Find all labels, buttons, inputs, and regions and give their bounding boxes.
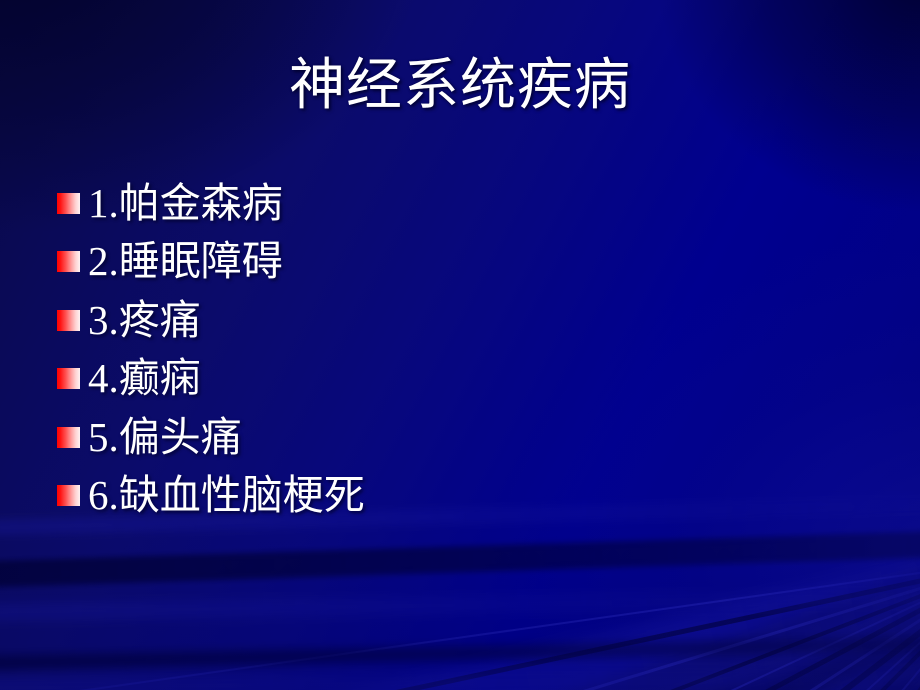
list-item-label: 3.疼痛 <box>88 300 201 341</box>
list-item-label: 1.帕金森病 <box>88 183 283 224</box>
list-item[interactable]: 1.帕金森病 <box>57 174 365 233</box>
bullet-square-icon <box>57 368 80 389</box>
list-item[interactable]: 5.偏头痛 <box>57 408 365 467</box>
bullet-square-icon <box>57 310 80 331</box>
bullet-list: 1.帕金森病 2.睡眠障碍 3.疼痛 4.癫痫 5.偏头痛 6.缺血性脑梗死 <box>57 174 365 525</box>
list-item-label: 5.偏头痛 <box>88 417 242 458</box>
slide-title: 神经系统疾病 <box>0 57 920 116</box>
list-item-label: 2.睡眠障碍 <box>88 241 283 282</box>
list-item[interactable]: 4.癫痫 <box>57 350 365 409</box>
bullet-square-icon <box>57 427 80 448</box>
bullet-square-icon <box>57 485 80 506</box>
bullet-square-icon <box>57 193 80 214</box>
list-item-label: 6.缺血性脑梗死 <box>88 475 365 516</box>
list-item[interactable]: 3.疼痛 <box>57 291 365 350</box>
bullet-square-icon <box>57 251 80 272</box>
list-item-label: 4.癫痫 <box>88 358 201 399</box>
slide-content: 神经系统疾病 1.帕金森病 2.睡眠障碍 3.疼痛 4.癫痫 5.偏头痛 <box>0 0 920 690</box>
list-item[interactable]: 6.缺血性脑梗死 <box>57 467 365 526</box>
list-item[interactable]: 2.睡眠障碍 <box>57 233 365 292</box>
presentation-slide: 神经系统疾病 1.帕金森病 2.睡眠障碍 3.疼痛 4.癫痫 5.偏头痛 <box>0 0 920 690</box>
